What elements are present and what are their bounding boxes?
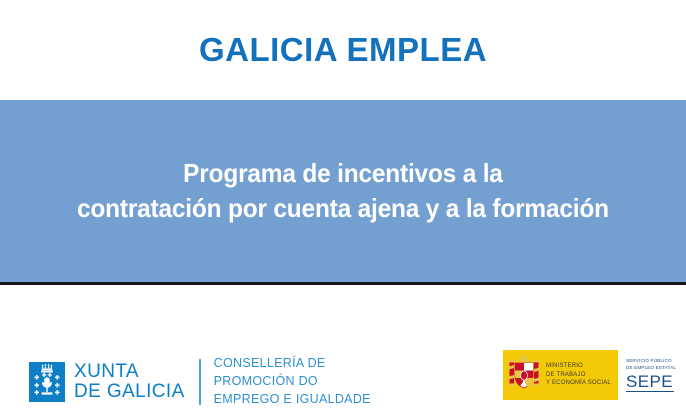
conselleria-line-1: CONSELLERÍA DE <box>214 355 371 373</box>
sepe-wordmark: SEPE <box>626 373 674 392</box>
xunta-wordmark-line-2: DE GALICIA <box>74 382 185 402</box>
sepe-logo: SERVICIO PÚBLICO DE EMPLEO ESTATAL SEPE <box>618 350 686 400</box>
banner-line-1: Programa de incentivos a la <box>77 156 609 191</box>
conselleria-line-3: EMPREGO E IGUALDADE <box>214 391 371 409</box>
sepe-subtitle: SERVICIO PÚBLICO DE EMPLEO ESTATAL <box>626 358 686 371</box>
xunta-wordmark-line-1: XUNTA <box>74 362 185 382</box>
ministerio-line-1: MINISTERIO <box>546 362 611 371</box>
sepe-subtitle-line-1: SERVICIO PÚBLICO <box>626 358 686 365</box>
logo-divider <box>199 359 201 405</box>
ministerio-text: MINISTERIO DE TRABAJO Y ECONOMÍA SOCIAL <box>546 362 611 388</box>
ministerio-line-2: DE TRABAJO <box>546 371 611 380</box>
program-banner: Programa de incentivos a la contratación… <box>0 100 686 285</box>
government-logos: MINISTERIO DE TRABAJO Y ECONOMÍA SOCIAL … <box>503 350 686 400</box>
ministerio-line-3: Y ECONOMÍA SOCIAL <box>546 379 611 388</box>
banner-line-2: contratación por cuenta ajena y a la for… <box>77 191 609 226</box>
xunta-de-galicia-logo: XUNTA DE GALICIA CONSELLERÍA DE PROMOCIÓ… <box>29 355 371 408</box>
header-bar: GALICIA EMPLEA <box>0 0 686 100</box>
sepe-subtitle-line-2: DE EMPLEO ESTATAL <box>626 365 686 372</box>
xunta-wordmark: XUNTA DE GALICIA <box>74 362 185 402</box>
conselleria-text: CONSELLERÍA DE PROMOCIÓN DO EMPREGO E IG… <box>214 355 371 408</box>
conselleria-line-2: PROMOCIÓN DO <box>214 373 371 391</box>
spain-coat-of-arms-icon <box>507 353 541 398</box>
galicia-coat-of-arms-icon <box>29 362 65 402</box>
banner-text-block: Programa de incentivos a la contratación… <box>71 156 614 226</box>
page-title: GALICIA EMPLEA <box>199 31 487 69</box>
footer-logos: XUNTA DE GALICIA CONSELLERÍA DE PROMOCIÓ… <box>0 288 686 410</box>
ministerio-logo: MINISTERIO DE TRABAJO Y ECONOMÍA SOCIAL <box>503 350 618 400</box>
